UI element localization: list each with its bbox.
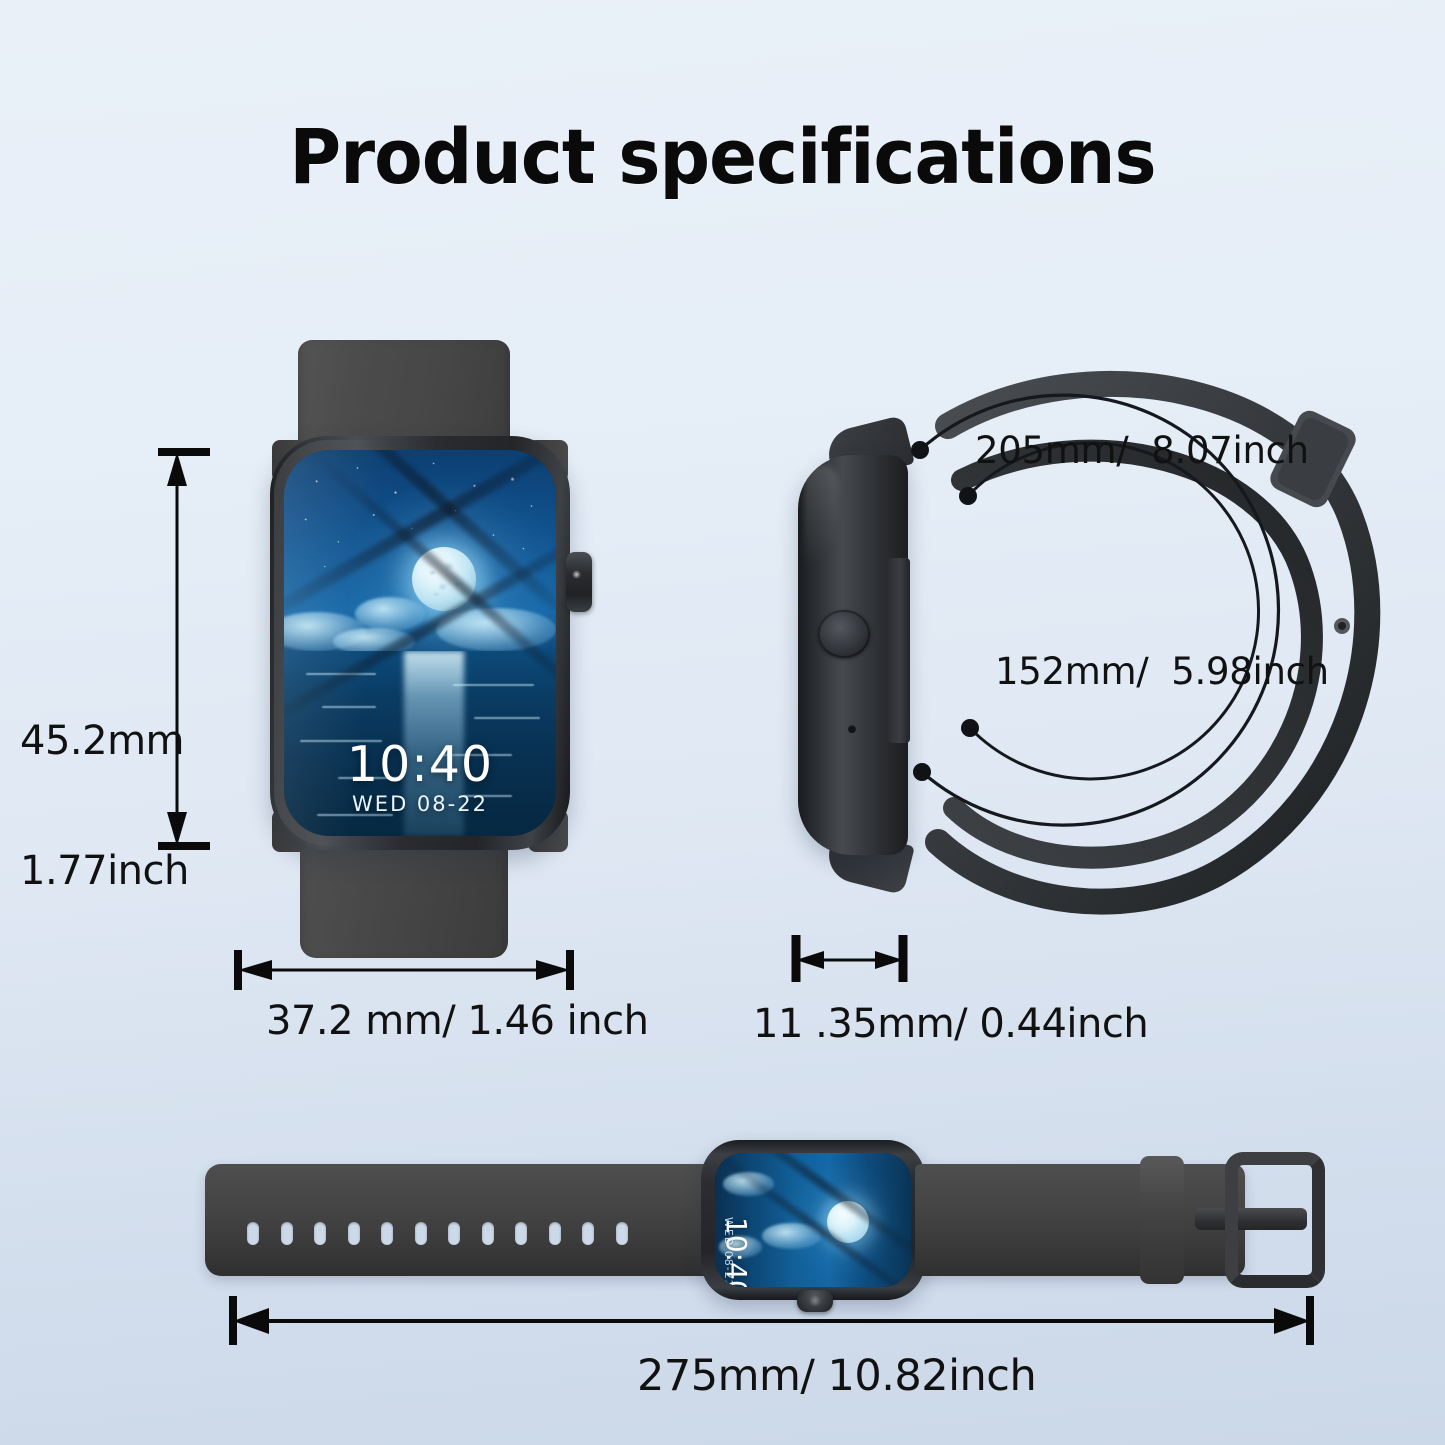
flat-watch-screen[interactable]: 10:40 WED 08-22 xyxy=(715,1153,911,1287)
watch-face-date: WED 08-22 xyxy=(284,792,556,816)
strap-hole xyxy=(448,1222,460,1245)
strap-buckle xyxy=(1225,1152,1325,1288)
measure-circle-inner xyxy=(968,443,1259,779)
crown-button[interactable] xyxy=(566,552,592,612)
flat-strap-left xyxy=(205,1164,735,1276)
watch-case: 10:40 WED 08-22 xyxy=(270,436,570,850)
strap-hole xyxy=(482,1222,494,1245)
dimension-height-mm: 45.2mm xyxy=(20,720,189,763)
dimension-strap-inner: 152mm/ 5.98inch xyxy=(995,650,1329,693)
strap-hole xyxy=(415,1222,427,1245)
strap-hole xyxy=(616,1222,628,1245)
page-title: Product specifications xyxy=(51,112,1395,201)
strap-buckle-pin xyxy=(1334,618,1350,634)
dimension-height-label: 45.2mm 1.77inch xyxy=(20,634,189,980)
strap-keeper-loop xyxy=(1140,1156,1184,1284)
watch-screen[interactable]: 10:40 WED 08-22 xyxy=(284,450,556,836)
watch-face-time: 10:40 xyxy=(284,736,556,793)
measure-dot-inner-end xyxy=(961,719,979,737)
strap-hole xyxy=(247,1222,259,1245)
dimension-width-label: 37.2 mm/ 1.46 inch xyxy=(266,1000,648,1043)
flat-watch-case: 10:40 WED 08-22 xyxy=(701,1140,925,1300)
watch-front-view: 10:40 WED 08-22 xyxy=(270,340,570,930)
strap-bottom-segment xyxy=(300,832,508,958)
dimension-total-length-label: 275mm/ 10.82inch xyxy=(637,1353,1036,1399)
measure-dot-outer-end xyxy=(913,763,931,781)
measure-dot-inner-start xyxy=(959,487,977,505)
strap-hole xyxy=(348,1222,360,1245)
strap-loop-illustration xyxy=(830,330,1420,940)
watch-flat-lay-view: 10:40 WED 08-22 xyxy=(205,1140,1345,1300)
strap-holes-group xyxy=(247,1222,628,1245)
dimension-line-total-length xyxy=(233,1296,1310,1345)
strap-hole xyxy=(281,1222,293,1245)
strap-hole xyxy=(582,1222,594,1245)
strap-hole xyxy=(314,1222,326,1245)
strap-hole xyxy=(549,1222,561,1245)
dimension-strap-outer: 205mm/ 8.07inch xyxy=(975,429,1309,472)
strap-hole xyxy=(381,1222,393,1245)
measure-dot-outer-start xyxy=(911,441,929,459)
dimension-line-thickness xyxy=(796,935,903,982)
flat-crown-button[interactable] xyxy=(797,1290,833,1312)
dimension-height-inch: 1.77inch xyxy=(20,850,189,893)
flat-watch-face-date: WED 08-22 xyxy=(722,1217,735,1287)
strap-hole xyxy=(515,1222,527,1245)
dimension-thickness-label: 11 .35mm/ 0.44inch xyxy=(753,1003,1148,1046)
product-specifications-page: Product specifications xyxy=(0,0,1445,1445)
